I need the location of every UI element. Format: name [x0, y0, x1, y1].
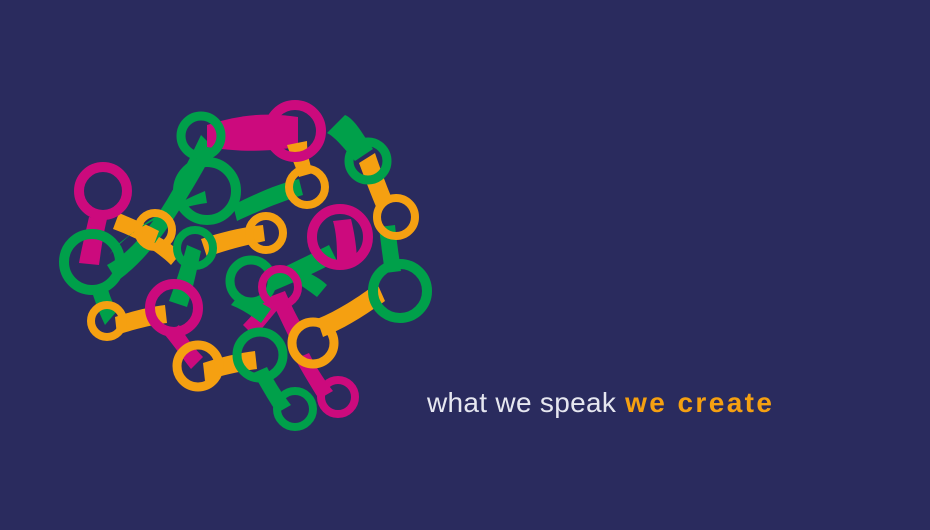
tagline-light-text: what we speak: [427, 387, 616, 418]
tagline: what we speakwe create: [427, 389, 774, 417]
logo-nodes: [64, 105, 427, 427]
slide-canvas: what we speakwe create: [0, 0, 930, 530]
tagline-bold-text: we create: [625, 387, 774, 418]
brain-network-logo: [55, 95, 445, 435]
